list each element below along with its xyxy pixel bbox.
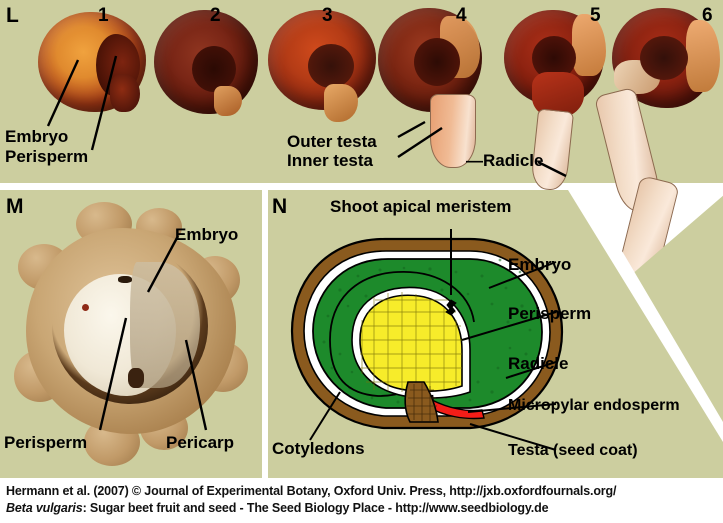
seed-photo-4 xyxy=(378,8,498,170)
panel-N-container xyxy=(268,190,723,478)
seed-photo-3 xyxy=(268,10,378,122)
label-N-testa: Testa (seed coat) xyxy=(508,443,638,460)
seed-photo-1 xyxy=(38,12,146,112)
caption-block: Hermann et al. (2007) © Journal of Exper… xyxy=(0,478,723,523)
figure-root: L 1 2 3 4 5 6 Embryo Perisperm Outer tes… xyxy=(0,0,723,523)
label-N-perisperm: Perisperm xyxy=(508,305,591,323)
panel-L-letter: L xyxy=(6,5,19,26)
label-M-embryo: Embryo xyxy=(175,226,238,244)
label-M-perisperm: Perisperm xyxy=(4,434,87,452)
seed-number-2: 2 xyxy=(210,6,221,25)
seed-number-6: 6 xyxy=(702,6,713,25)
label-L-embryo: Embryo xyxy=(5,128,68,146)
label-M-pericarp: Pericarp xyxy=(166,434,234,452)
species-name: Beta vulgaris xyxy=(6,501,83,515)
seed-photo-2 xyxy=(154,10,258,116)
caption-line-1: Hermann et al. (2007) © Journal of Exper… xyxy=(6,484,616,498)
label-N-cotyledons: Cotyledons xyxy=(272,440,365,458)
label-N-radicle: Radicle xyxy=(508,355,568,373)
label-N-shoot-apical-meristem: Shoot apical meristem xyxy=(330,198,511,216)
label-L-outer-testa: Outer testa xyxy=(287,133,377,151)
caption-line-2: Beta vulgaris: Sugar beet fruit and seed… xyxy=(6,501,548,515)
seed-number-5: 5 xyxy=(590,6,601,25)
label-L-inner-testa: Inner testa xyxy=(287,152,373,170)
label-L-perisperm: Perisperm xyxy=(5,148,88,166)
label-N-embryo: Embryo xyxy=(508,256,571,274)
panel-N-letter: N xyxy=(272,196,287,217)
caption-line-2-rest: : Sugar beet fruit and seed - The Seed B… xyxy=(83,501,549,515)
panel-M-letter: M xyxy=(6,196,24,217)
label-L-radicle: —Radicle xyxy=(466,152,543,170)
label-N-micropylar-endosperm: Micropylar endosperm xyxy=(508,398,680,415)
seed-number-1: 1 xyxy=(98,6,109,25)
seed-number-4: 4 xyxy=(456,6,467,25)
seed-number-3: 3 xyxy=(322,6,333,25)
